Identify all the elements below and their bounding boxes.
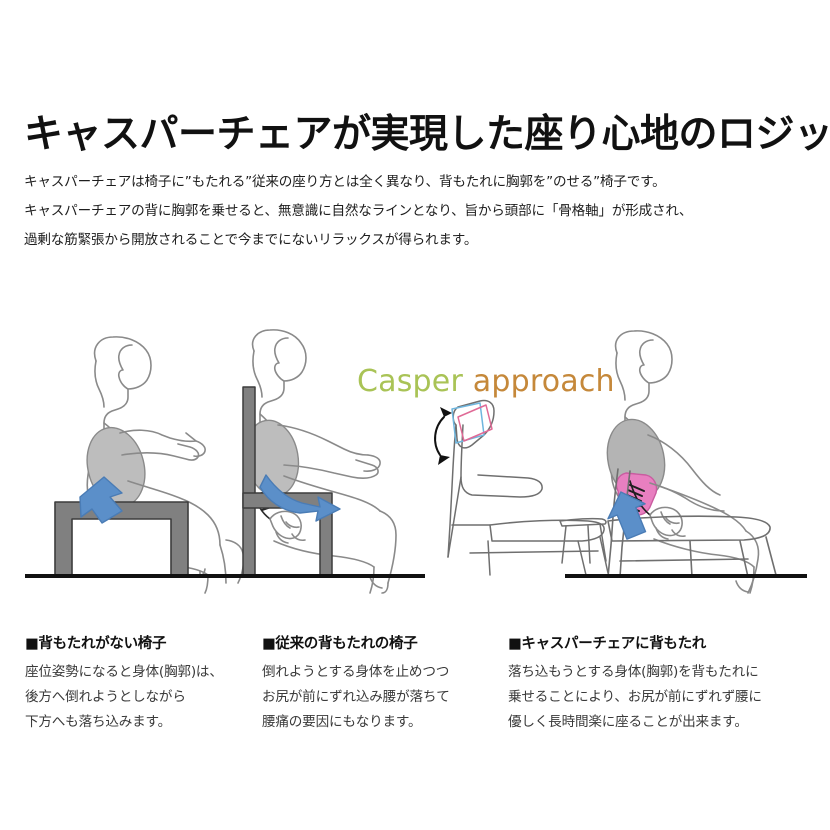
caption-conventional-backrest: ■従来の背もたれの椅子 倒れようとする身体を止めつつ お尻が前にずれ込み腰が落ち… <box>262 632 512 735</box>
casper-approach-label: Casper approach <box>357 364 615 399</box>
adjacent-seat <box>560 519 606 526</box>
figure-no-backrest <box>55 337 244 593</box>
ground-line-left <box>25 574 425 578</box>
chair-back-post <box>448 425 456 557</box>
shin <box>382 583 388 593</box>
caption-casper-backrest: ■キャスパーチェアに背もたれ 落ち込もうとする身体(胸郭)を背もたれに 乗せるこ… <box>508 632 808 735</box>
ankle <box>736 581 748 592</box>
pelvis-detail <box>281 516 299 528</box>
backrest-tilt-forward <box>458 405 492 441</box>
caption-line: 下方へも落ち込みます。 <box>25 710 265 735</box>
seat-contact <box>654 539 754 567</box>
adjacent-legs <box>562 524 606 563</box>
hand <box>194 441 205 456</box>
chair-backrest <box>243 387 255 575</box>
lead-line-2: キャスパーチェアの背に胸郭を乗せると、無意識に自然なラインとなり、旨から頭部に「… <box>24 197 814 226</box>
lead-line-1: キャスパーチェアは椅子に”もたれる”従来の座り方とは全く異なり、背もたれに胸郭を… <box>24 168 814 197</box>
stool <box>55 502 188 577</box>
caption-line: 優しく長時間楽に座ることが出来ます。 <box>508 710 808 735</box>
page-title: キャスパーチェアが実現した座り心地のロジック <box>24 114 814 157</box>
face-profile <box>119 345 132 389</box>
caption-line: お尻が前にずれ込み腰が落ちて <box>262 685 512 710</box>
caption-line: 落ち込もうとする身体(胸郭)を背もたれに <box>508 660 808 685</box>
neck-back <box>95 361 104 407</box>
page-root: キャスパーチェアが実現した座り心地のロジック キャスパーチェアは椅子に”もたれる… <box>0 0 830 830</box>
casper-word: Casper <box>357 364 463 399</box>
caption-line: 後方へ倒れようとしながら <box>25 685 265 710</box>
knee-front <box>380 511 396 583</box>
ground-line-right <box>565 574 807 578</box>
approach-word: approach <box>473 364 615 399</box>
caption-line: 座位姿勢になると身体(胸郭)は、 <box>25 660 265 685</box>
caption-body: 倒れようとする身体を止めつつ お尻が前にずれ込み腰が落ちて 腰痛の要因にもなりま… <box>262 660 512 735</box>
pelvis-detail-2 <box>276 532 305 543</box>
caption-body: 座位姿勢になると身体(胸郭)は、 後方へ倒れようとしながら 下方へも落ち込みます… <box>25 660 265 735</box>
caption-line: 乗せることにより、お尻が前にずれず腰に <box>508 685 808 710</box>
neck-back <box>616 353 625 400</box>
caption-heading: ■キャスパーチェアに背もたれ <box>508 632 808 656</box>
caption-no-backrest: ■背もたれがない椅子 座位姿勢になると身体(胸郭)は、 後方へ倒れようとしながら… <box>25 632 265 735</box>
casper-stretcher <box>620 559 748 561</box>
lead-paragraph: キャスパーチェアは椅子に”もたれる”従来の座り方とは全く異なり、背もたれに胸郭を… <box>24 168 814 255</box>
caption-line: 腰痛の要因にもなります。 <box>262 710 512 735</box>
caption-body: 落ち込もうとする身体(胸郭)を背もたれに 乗せることにより、お尻が前にずれず腰に… <box>508 660 808 735</box>
face-profile <box>275 338 288 381</box>
pelvis-detail <box>661 512 679 524</box>
tilt-arrow-head-top <box>440 407 452 417</box>
chair-armrest <box>461 425 542 497</box>
caption-line: 倒れようとする身体を止めつつ <box>262 660 512 685</box>
figure-chair-tilt <box>435 400 608 575</box>
lower-leg-back <box>750 567 754 593</box>
caption-heading: ■従来の背もたれの椅子 <box>262 632 512 656</box>
chair-seat <box>490 520 604 541</box>
head-outline <box>95 337 151 435</box>
caption-heading: ■背もたれがない椅子 <box>25 632 265 656</box>
tilt-arrow-head-bottom <box>438 455 450 465</box>
tilt-arc <box>435 417 444 455</box>
face-profile <box>640 340 653 383</box>
lead-line-3: 過剰な筋緊張から開放されることで今までにないリラックスが得られます。 <box>24 226 814 255</box>
